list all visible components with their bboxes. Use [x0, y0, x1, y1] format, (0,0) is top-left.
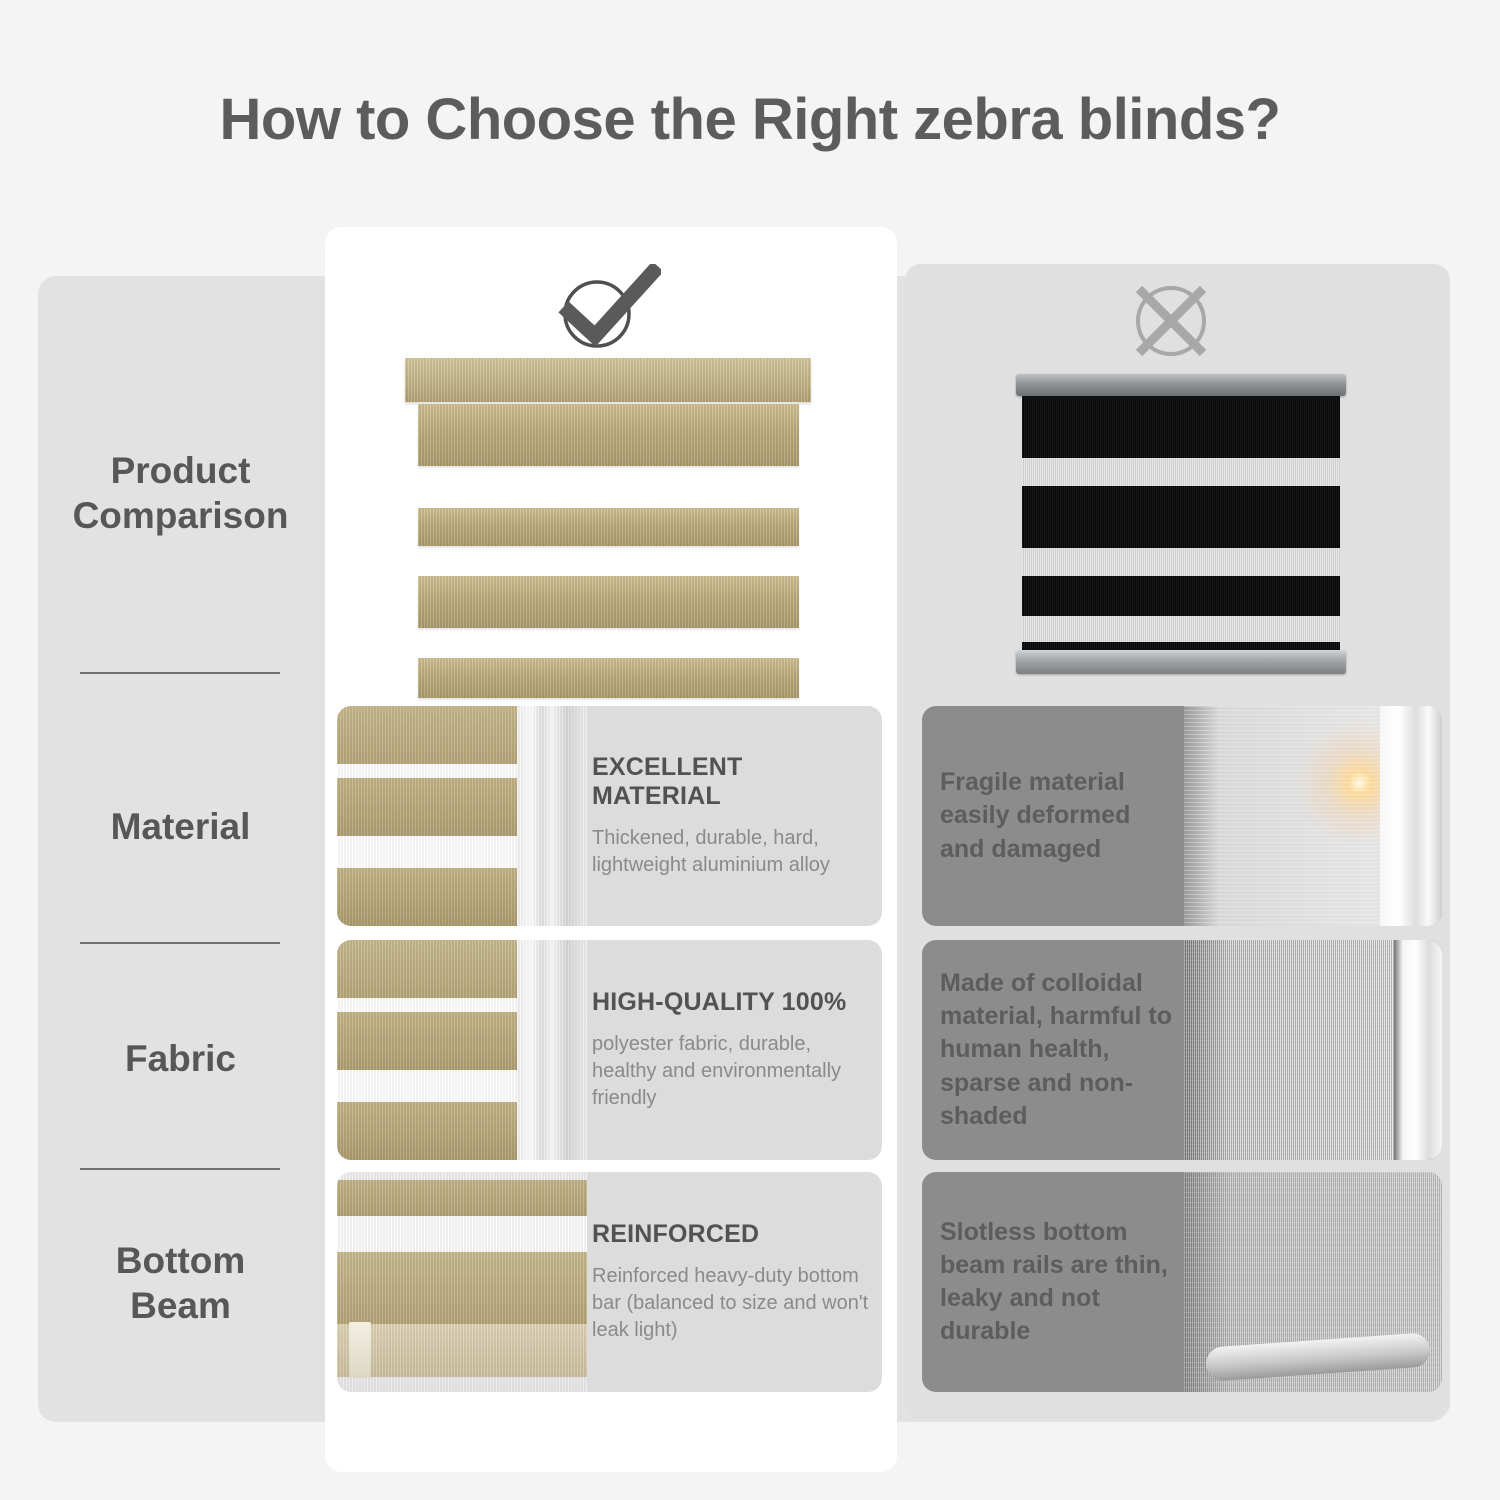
good-feature-fabric: HIGH-QUALITY 100% polyester fabric, dura… — [337, 940, 882, 1160]
feature-heading: HIGH-QUALITY 100% — [592, 988, 877, 1017]
row-label-line1: Bottom — [38, 1238, 323, 1283]
feature-text: HIGH-QUALITY 100% polyester fabric, dura… — [592, 940, 877, 1160]
blind-slat — [418, 576, 799, 628]
row-label-line1: Fabric — [38, 1036, 323, 1081]
bad-feature-bottom-beam: Slotless bottom beam rails are thin, lea… — [922, 1172, 1442, 1392]
blind-headrail — [1016, 374, 1346, 396]
row-label-line1: Material — [38, 804, 323, 849]
blind-bottom-rail — [1016, 650, 1346, 674]
blind-headrail — [405, 358, 811, 402]
check-circle-icon — [551, 264, 661, 359]
row-divider-3 — [80, 1168, 280, 1170]
feature-body: polyester fabric, durable, healthy and e… — [592, 1031, 877, 1112]
feature-body: Slotless bottom beam rails are thin, lea… — [940, 1216, 1180, 1349]
good-feature-material: EXCELLENT MATERIAL Thickened, durable, h… — [337, 706, 882, 926]
good-product-image-tan-zebra-blind — [405, 358, 811, 698]
blind-fabric — [1022, 396, 1340, 650]
bad-feature-material: Fragile material easily deformed and dam… — [922, 706, 1442, 926]
blind-slat — [418, 658, 799, 698]
feature-text: Fragile material easily deformed and dam… — [940, 706, 1180, 926]
blind-slat — [418, 508, 799, 546]
row-label-line2: Comparison — [38, 493, 323, 538]
row-divider-1 — [80, 672, 280, 674]
tan-blind-bottom-beam-photo — [337, 1172, 587, 1392]
feature-text: REINFORCED Reinforced heavy-duty bottom … — [592, 1172, 877, 1392]
row-divider-2 — [80, 942, 280, 944]
page-title: How to Choose the Right zebra blinds? — [0, 86, 1500, 153]
feature-body: Reinforced heavy-duty bottom bar (balanc… — [592, 1263, 877, 1344]
feature-heading: EXCELLENT MATERIAL — [592, 753, 877, 811]
row-label-fabric: Fabric — [38, 1036, 323, 1081]
bad-product-image-black-zebra-blind — [1016, 374, 1346, 674]
x-circle-icon — [1123, 276, 1219, 367]
blind-slat — [418, 404, 799, 466]
good-feature-bottom-beam: REINFORCED Reinforced heavy-duty bottom … — [337, 1172, 882, 1392]
feature-text: EXCELLENT MATERIAL Thickened, durable, h… — [592, 706, 877, 926]
bad-feature-fabric: Made of colloidal material, harmful to h… — [922, 940, 1442, 1160]
sparse-black-fabric-photo — [1184, 940, 1442, 1160]
feature-body: Thickened, durable, hard, lightweight al… — [592, 825, 877, 879]
feature-heading: REINFORCED — [592, 1220, 877, 1249]
row-label-column: Product Comparison Material Fabric Botto… — [38, 276, 323, 1422]
row-label-line2: Beam — [38, 1283, 323, 1328]
feature-text: Made of colloidal material, harmful to h… — [940, 940, 1180, 1160]
feature-text: Slotless bottom beam rails are thin, lea… — [940, 1172, 1180, 1392]
feature-body: Fragile material easily deformed and dam… — [940, 766, 1180, 866]
row-label-product-comparison: Product Comparison — [38, 448, 323, 538]
tan-blind-white-window-frame-photo — [337, 706, 587, 926]
row-label-line1: Product — [38, 448, 323, 493]
tan-blind-fabric-closeup-photo — [337, 940, 587, 1160]
row-label-material: Material — [38, 804, 323, 849]
light-leak-sunburst-window-photo — [1184, 706, 1442, 926]
row-label-bottom-beam: Bottom Beam — [38, 1238, 323, 1328]
feature-body: Made of colloidal material, harmful to h… — [940, 967, 1180, 1133]
thin-slotless-bottom-rail-photo — [1184, 1172, 1442, 1392]
